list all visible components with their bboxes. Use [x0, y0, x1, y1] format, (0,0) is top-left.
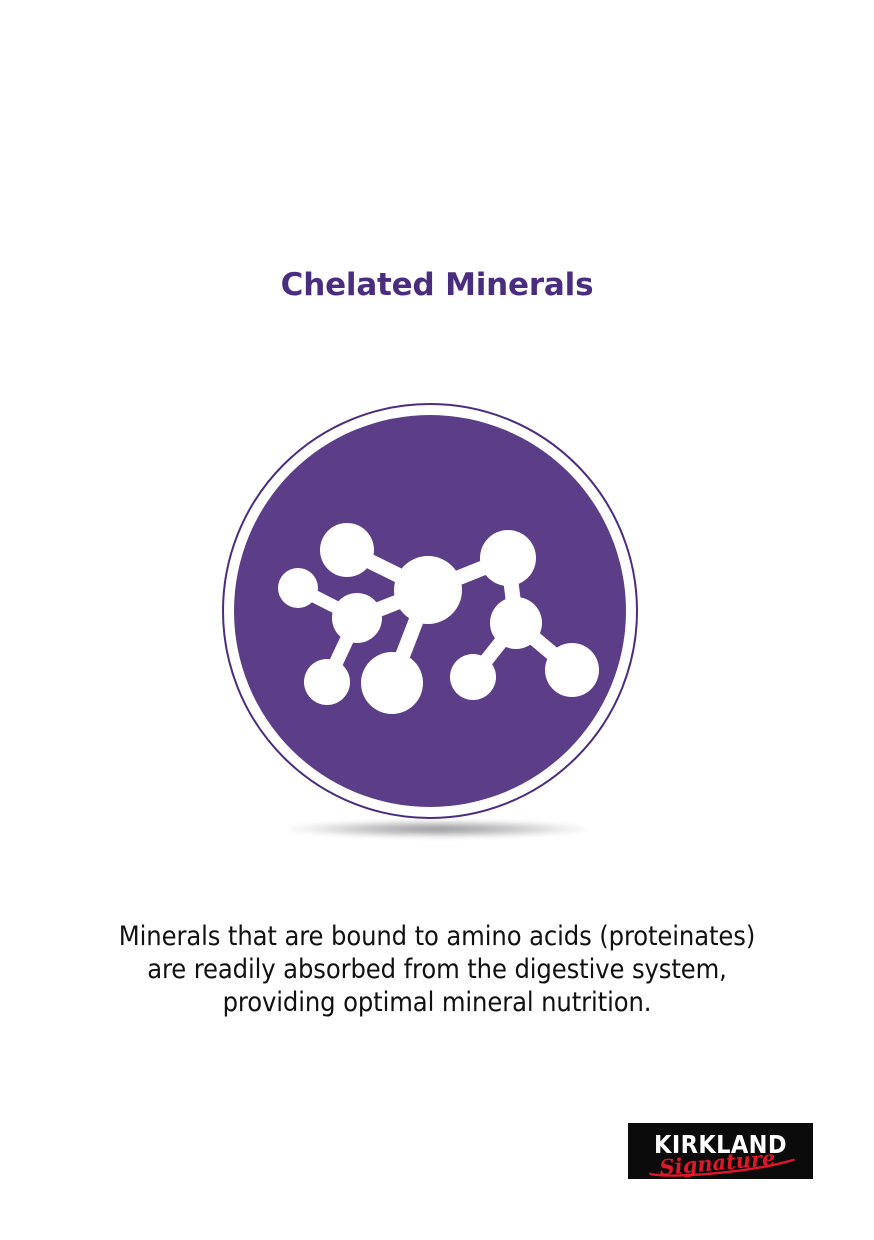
- page-title: Chelated Minerals: [0, 268, 874, 302]
- chelated-minerals-badge: [213, 395, 647, 855]
- molecule-icon: [213, 395, 647, 855]
- description-line: Minerals that are bound to amino acids (…: [0, 920, 874, 953]
- kirkland-signature-logo-art: KIRKLAND Signature: [628, 1123, 813, 1179]
- description-text: Minerals that are bound to amino acids (…: [0, 920, 874, 1019]
- page-canvas: Chelated Minerals: [0, 0, 874, 1240]
- description-line: providing optimal mineral nutrition.: [0, 986, 874, 1019]
- kirkland-signature-logo: KIRKLAND Signature: [628, 1123, 813, 1179]
- description-line: are readily absorbed from the digestive …: [0, 953, 874, 986]
